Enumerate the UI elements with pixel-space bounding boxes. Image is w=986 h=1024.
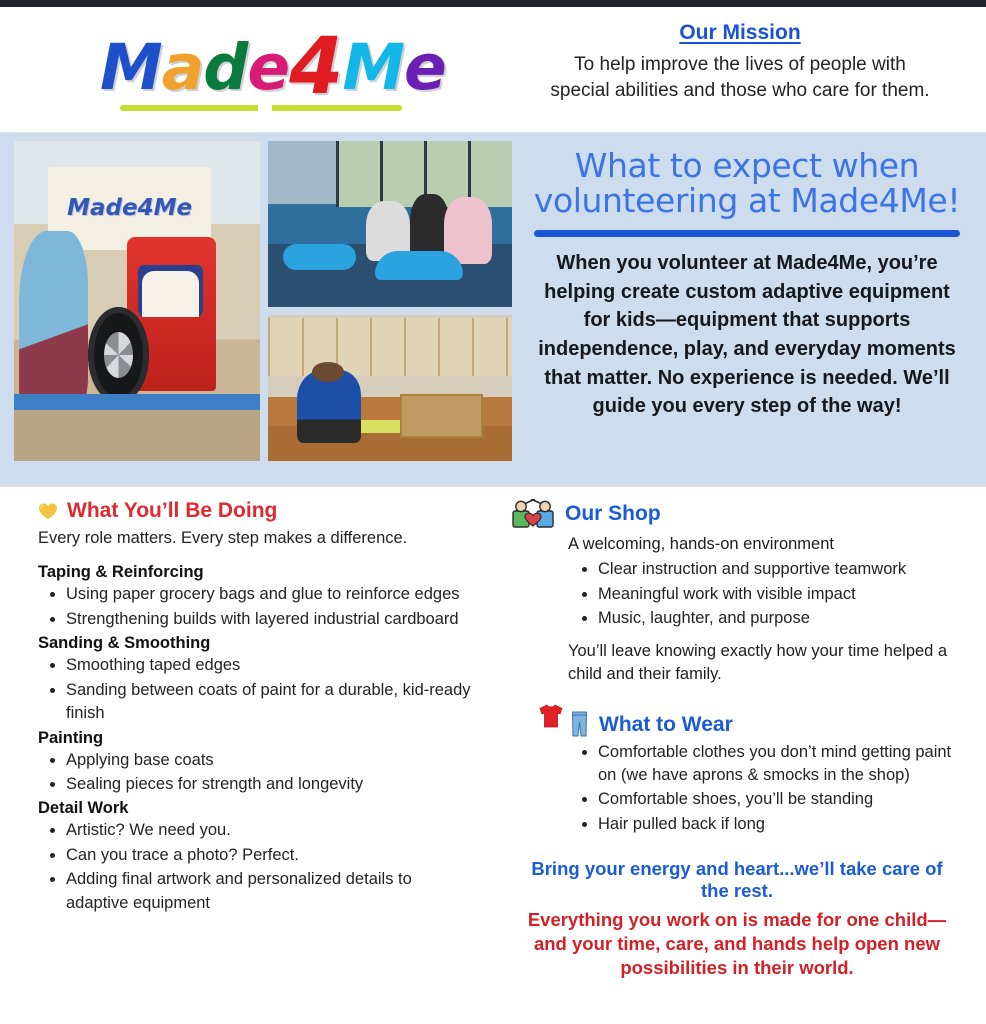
list-item: Comfortable shoes, you’ll be standing bbox=[598, 788, 964, 811]
photo-wheel-shape bbox=[88, 307, 150, 403]
logo-letter-m2: M bbox=[342, 31, 404, 104]
list-item: Sanding between coats of paint for a dur… bbox=[66, 679, 472, 726]
list-item: Adding final artwork and personalized de… bbox=[66, 868, 472, 915]
doing-group-label: Taping & Reinforcing bbox=[38, 563, 472, 582]
shop-list: Clear instruction and supportive teamwor… bbox=[568, 558, 964, 630]
tshirt-icon bbox=[538, 704, 564, 728]
page-header: Made4Me Our Mission To help improve the … bbox=[0, 7, 986, 133]
logo-area: Made4Me bbox=[0, 7, 520, 123]
list-item: Applying base coats bbox=[66, 749, 472, 772]
wear-list: Comfortable clothes you don’t mind getti… bbox=[568, 741, 964, 837]
list-item: Meaningful work with visible impact bbox=[598, 583, 964, 606]
tagline-red: Everything you work on is made for one c… bbox=[510, 908, 964, 980]
doing-group-label: Detail Work bbox=[38, 799, 472, 818]
shop-lead: A welcoming, hands-on environment bbox=[568, 533, 964, 556]
doing-group-list: Artistic? We need you. Can you trace a p… bbox=[38, 819, 472, 915]
hero-section: What to expect when volunteering at Made… bbox=[0, 133, 986, 487]
doing-group-list: Applying base coats Sealing pieces for s… bbox=[38, 749, 472, 797]
logo-letter-d: d bbox=[203, 31, 247, 104]
logo-letter-four: 4 bbox=[289, 22, 342, 112]
photo-cardboard-box-shape bbox=[400, 394, 483, 438]
doing-group: Taping & Reinforcing Using paper grocery… bbox=[38, 563, 472, 631]
photo-column-right bbox=[268, 141, 512, 461]
doing-lead: Every role matters. Every step makes a d… bbox=[38, 527, 472, 550]
list-item: Strengthening builds with layered indust… bbox=[66, 608, 472, 631]
wear-title: What to Wear bbox=[599, 713, 733, 737]
couple-with-heart-icon bbox=[510, 499, 556, 529]
column-shop-and-wear: Our Shop A welcoming, hands-on environme… bbox=[500, 499, 986, 980]
list-item: Using paper grocery bags and glue to rei… bbox=[66, 583, 472, 606]
list-item: Comfortable clothes you don’t mind getti… bbox=[598, 741, 964, 788]
shop-title: Our Shop bbox=[565, 502, 661, 526]
list-item: Smoothing taped edges bbox=[66, 654, 472, 677]
doing-title: What You’ll Be Doing bbox=[67, 499, 277, 523]
shop-section-header: Our Shop bbox=[510, 499, 964, 529]
list-item: Sealing pieces for strength and longevit… bbox=[66, 773, 472, 796]
logo-underline-swash bbox=[120, 105, 402, 111]
hero-title-line-1: What to expect when bbox=[530, 149, 964, 184]
photo-volunteers-assembling-cardboard-parts bbox=[268, 315, 512, 461]
doing-group-label: Painting bbox=[38, 729, 472, 748]
list-item: Clear instruction and supportive teamwor… bbox=[598, 558, 964, 581]
list-item: Music, laughter, and purpose bbox=[598, 607, 964, 630]
photo-foam-shape bbox=[375, 251, 463, 281]
hero-text-block: What to expect when volunteering at Made… bbox=[512, 133, 986, 421]
logo-letter-e1: e bbox=[247, 31, 289, 104]
mission-title: Our Mission bbox=[520, 21, 960, 45]
jeans-icon bbox=[571, 711, 588, 737]
doing-group: Detail Work Artistic? We need you. Can y… bbox=[38, 799, 472, 915]
mission-line-1: To help improve the lives of people with bbox=[520, 52, 960, 78]
photo-volunteer-painting-lightning-mcqueen-car bbox=[14, 141, 260, 461]
shop-body: A welcoming, hands-on environment Clear … bbox=[510, 533, 964, 687]
content-columns: What You’ll Be Doing Every role matters.… bbox=[0, 487, 986, 980]
column-what-youll-be-doing: What You’ll Be Doing Every role matters.… bbox=[0, 499, 500, 980]
hero-body-text: When you volunteer at Made4Me, you’re he… bbox=[530, 249, 964, 421]
wear-body: Comfortable clothes you don’t mind getti… bbox=[510, 741, 964, 837]
tagline-blue: Bring your energy and heart...we’ll take… bbox=[510, 858, 964, 902]
logo-letter-m1: M bbox=[100, 31, 162, 104]
list-item: Hair pulled back if long bbox=[598, 813, 964, 836]
hero-title-line-2: volunteering at Made4Me! bbox=[530, 184, 964, 219]
hero-divider-rule bbox=[534, 230, 960, 237]
yellow-heart-icon bbox=[38, 502, 58, 520]
doing-section-header: What You’ll Be Doing bbox=[38, 499, 472, 523]
photo-person-shape bbox=[19, 231, 88, 410]
photo-volunteers-shaping-blue-foam bbox=[268, 141, 512, 307]
logo-letter-a: a bbox=[162, 31, 204, 104]
photo-foam-shape bbox=[283, 244, 356, 271]
browser-top-bar bbox=[0, 0, 986, 7]
hero-title: What to expect when volunteering at Made… bbox=[530, 149, 964, 218]
doing-group: Sanding & Smoothing Smoothing taped edge… bbox=[38, 634, 472, 725]
mission-block: Our Mission To help improve the lives of… bbox=[520, 7, 986, 103]
list-item: Artistic? We need you. bbox=[66, 819, 472, 842]
photo-shelving-shape bbox=[268, 318, 512, 376]
doing-group: Painting Applying base coats Sealing pie… bbox=[38, 729, 472, 797]
photo-collage bbox=[0, 133, 512, 461]
shop-tail: You’ll leave knowing exactly how your ti… bbox=[568, 640, 964, 687]
photo-bench-shape bbox=[14, 394, 260, 410]
doing-group-label: Sanding & Smoothing bbox=[38, 634, 472, 653]
logo-letter-e2: e bbox=[404, 31, 446, 104]
doing-group-list: Using paper grocery bags and glue to rei… bbox=[38, 583, 472, 631]
list-item: Can you trace a photo? Perfect. bbox=[66, 844, 472, 867]
doing-group-list: Smoothing taped edges Sanding between co… bbox=[38, 654, 472, 725]
made4me-logo: Made4Me bbox=[100, 13, 420, 123]
photo-head-shape bbox=[312, 362, 344, 382]
mission-line-2: special abilities and those who care for… bbox=[520, 78, 960, 104]
wear-section-header: What to Wear bbox=[538, 711, 964, 737]
